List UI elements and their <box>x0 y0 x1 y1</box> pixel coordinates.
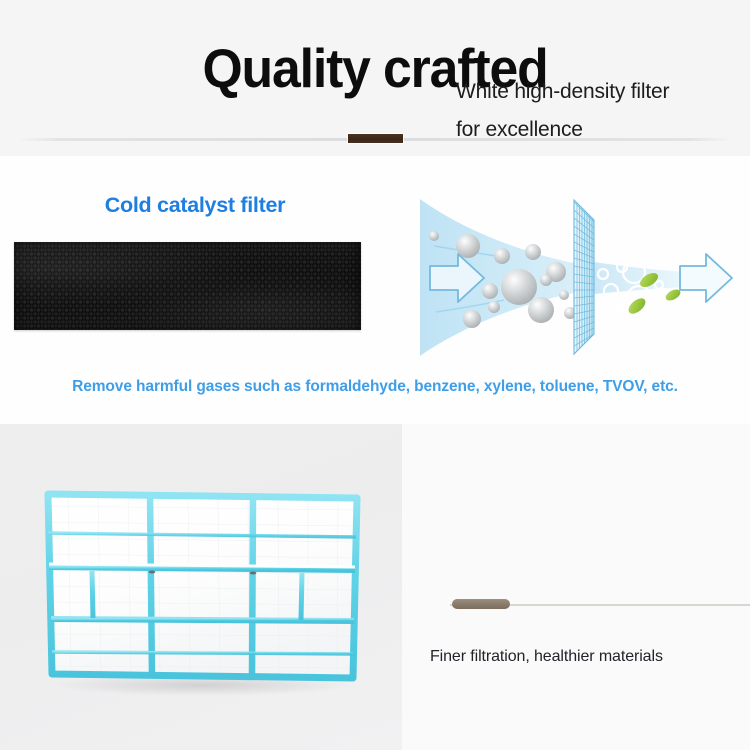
white-filter-divider-accent <box>452 599 510 609</box>
honeycomb-filter-slab <box>14 242 361 330</box>
promo-page: Quality crafted Cold catalyst filter <box>0 0 750 750</box>
arrow-right-outline-outlet <box>680 254 732 302</box>
white-filter-image-panel <box>0 424 402 750</box>
grid-mesh-panel <box>574 194 594 359</box>
white-filter-section <box>0 424 750 750</box>
header-accent-marker <box>348 134 403 143</box>
airflow-filtration-diagram <box>398 194 738 359</box>
white-high-density-filter-panel <box>40 482 365 697</box>
white-filter-heading: White high-density filter for excellence <box>456 73 736 149</box>
cold-catalyst-section: Cold catalyst filter <box>0 156 750 424</box>
cold-catalyst-label: Cold catalyst filter <box>20 193 370 218</box>
white-filter-heading-line1: White high-density filter <box>456 73 736 111</box>
white-filter-text-panel <box>402 424 750 750</box>
white-filter-heading-line2: for excellence <box>456 111 736 149</box>
cold-catalyst-caption: Remove harmful gases such as formaldehyd… <box>0 378 750 396</box>
white-filter-subtitle: Finer filtration, healthier materials <box>430 648 750 666</box>
